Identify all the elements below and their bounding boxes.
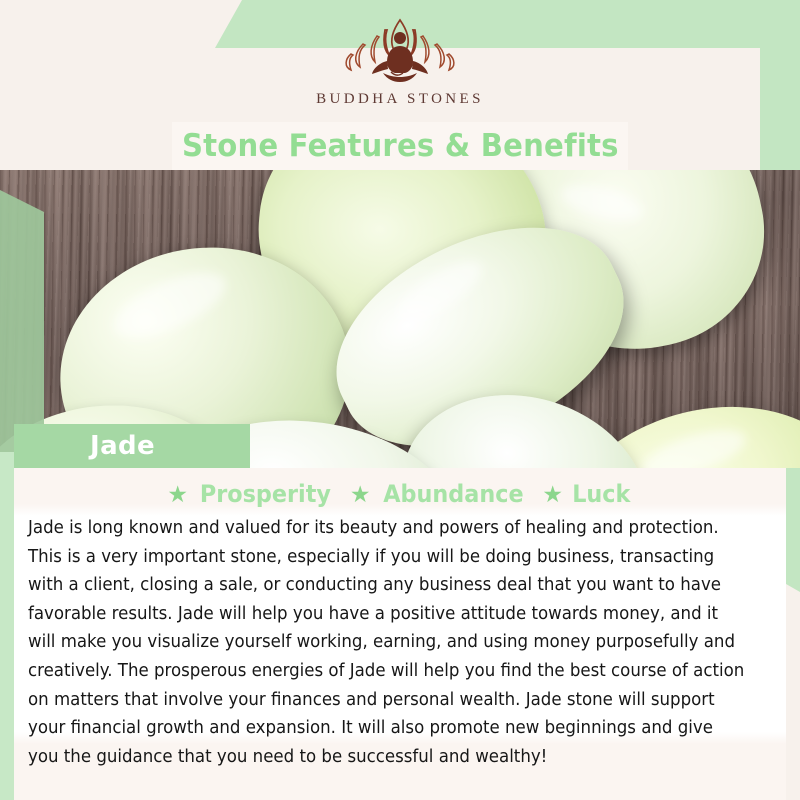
benefit-label: Prosperity [200, 480, 331, 508]
benefits-row: ★ Prosperity ★ Abundance ★ Luck [14, 478, 786, 510]
benefit-label: Abundance [383, 480, 523, 508]
star-icon: ★ [542, 483, 563, 506]
decor-left-edge-bar [0, 452, 14, 800]
benefit-item: ★ Abundance [350, 480, 529, 508]
logo-lockup: BUDDHA STONES [316, 14, 484, 108]
stone-name-band: Jade [14, 424, 250, 468]
benefit-label: Luck [572, 480, 630, 508]
star-icon: ★ [167, 483, 188, 506]
title-banner: Stone Features & Benefits [172, 122, 628, 170]
benefit-item: ★ Luck [542, 480, 632, 508]
brand-wordmark: BUDDHA STONES [316, 91, 484, 108]
star-icon: ★ [350, 483, 371, 506]
lotus-meditation-icon [325, 14, 475, 86]
benefit-item: ★ Prosperity [167, 480, 335, 508]
stone-name-label: Jade [90, 431, 155, 461]
description-text: Jade is long known and valued for its be… [28, 514, 746, 771]
poster-canvas: BUDDHA STONES Stone Features & Benefits … [0, 0, 800, 800]
content-panel: ★ Prosperity ★ Abundance ★ Luck Jade is … [14, 468, 786, 800]
decor-left-photo-band [0, 190, 44, 452]
page-title: Stone Features & Benefits [182, 128, 619, 164]
brand-header: BUDDHA STONES [0, 0, 800, 122]
